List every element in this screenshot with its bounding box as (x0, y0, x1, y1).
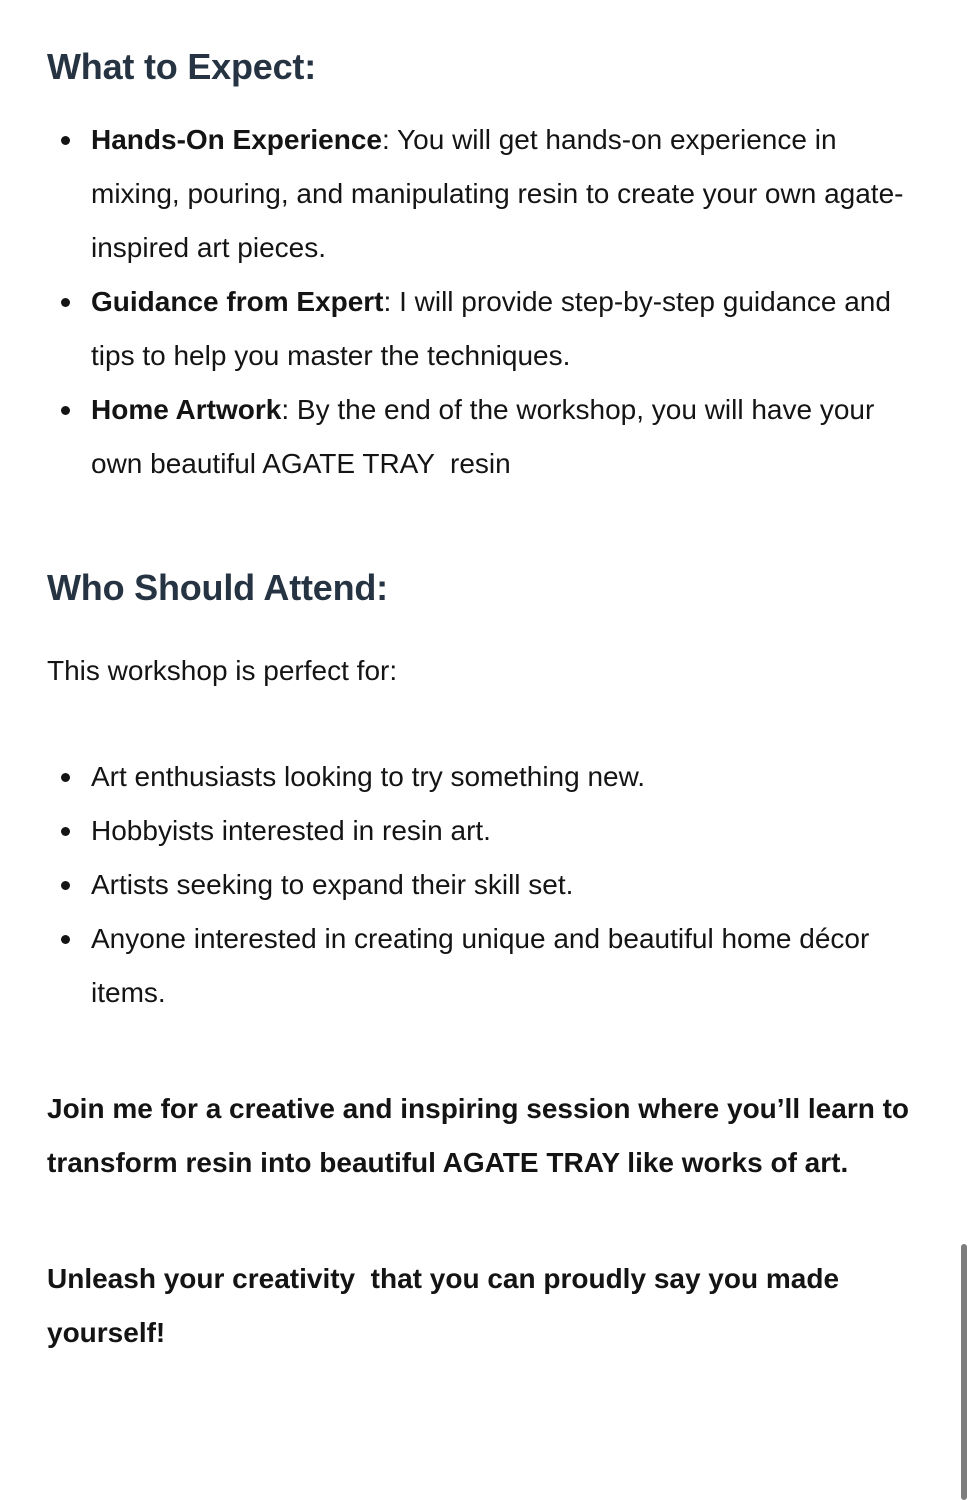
what-to-expect-list: Hands-On Experience: You will get hands-… (47, 113, 932, 491)
closing-paragraph-unleash: Unleash your creativity that you can pro… (47, 1252, 932, 1360)
list-item: Guidance from Expert: I will provide ste… (47, 275, 932, 383)
list-item: Anyone interested in creating unique and… (47, 912, 932, 1020)
list-item: Hobbyists interested in resin art. (47, 804, 932, 858)
vertical-scrollbar[interactable] (961, 0, 968, 1500)
scrollbar-thumb[interactable] (961, 1244, 967, 1500)
list-item: Home Artwork: By the end of the workshop… (47, 383, 932, 491)
list-item-text: Art enthusiasts looking to try something… (91, 761, 645, 792)
list-item: Hands-On Experience: You will get hands-… (47, 113, 932, 275)
list-item-text: Anyone interested in creating unique and… (91, 923, 877, 1008)
list-item: Art enthusiasts looking to try something… (47, 750, 932, 804)
page-title-who-should-attend: Who Should Attend: (47, 566, 932, 610)
list-item-label: Hands-On Experience (91, 124, 382, 155)
list-item-label: Home Artwork (91, 394, 281, 425)
list-item-text: Hobbyists interested in resin art. (91, 815, 491, 846)
document-page: What to Expect: Hands-On Experience: You… (0, 0, 980, 1500)
list-item: Artists seeking to expand their skill se… (47, 858, 932, 912)
audience-list: Art enthusiasts looking to try something… (47, 750, 932, 1020)
closing-paragraph-join: Join me for a creative and inspiring ses… (47, 1082, 932, 1190)
audience-intro-text: This workshop is perfect for: (47, 644, 932, 698)
list-item-text: Artists seeking to expand their skill se… (91, 869, 573, 900)
page-title-what-to-expect: What to Expect: (47, 0, 932, 89)
list-item-label: Guidance from Expert (91, 286, 384, 317)
